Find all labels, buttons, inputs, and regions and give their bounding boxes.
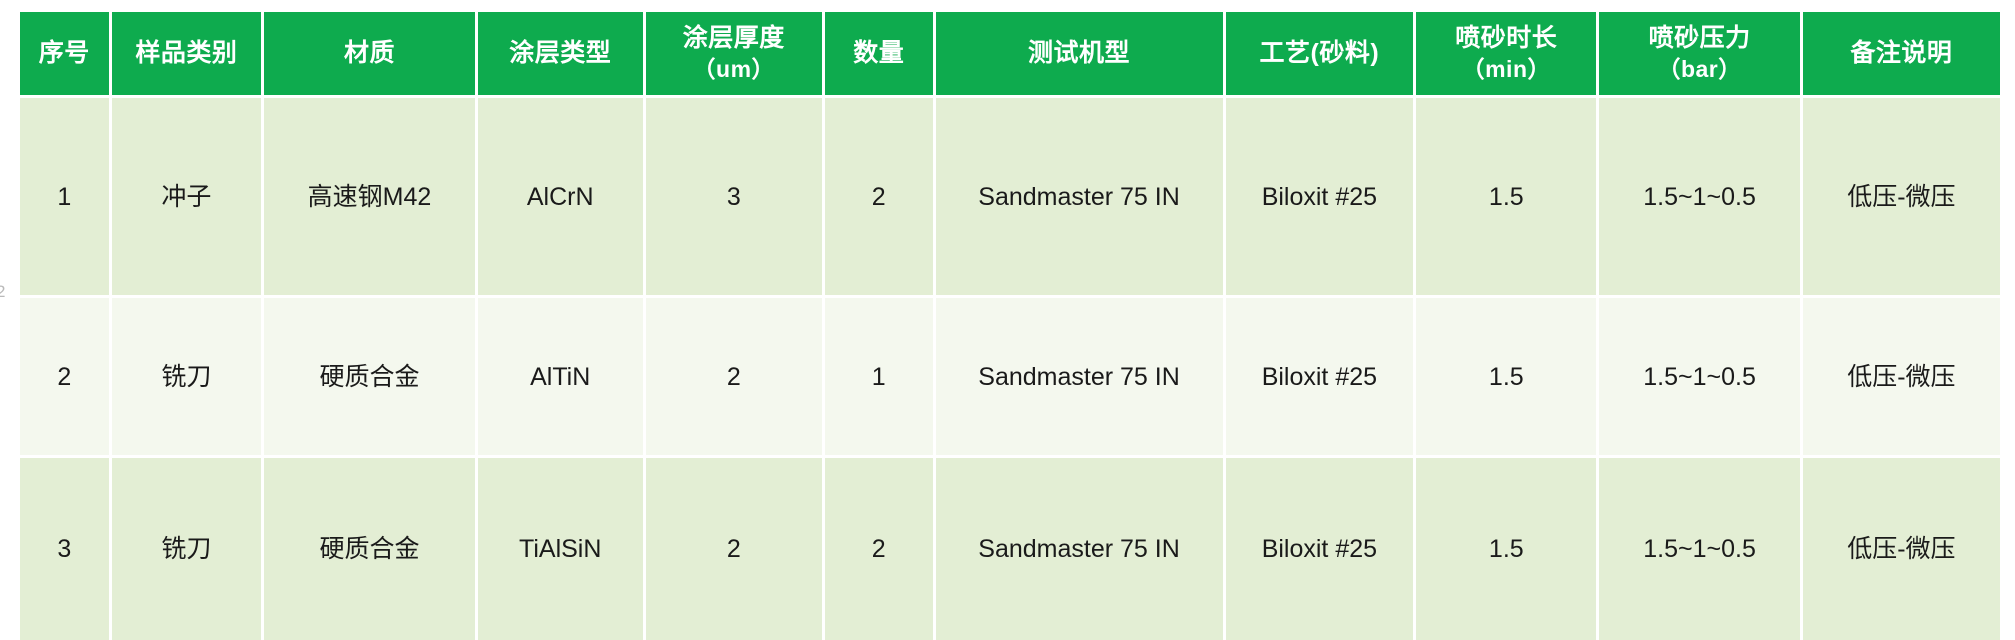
cell-seq: 1 (20, 98, 112, 298)
column-header-blast-pressure-label: 喷砂压力 (1649, 24, 1751, 52)
column-header-quantity-label: 数量 (853, 39, 904, 67)
cell-blast-time: 1.5 (1416, 98, 1599, 298)
cell-coating-thickness: 2 (646, 458, 825, 640)
cell-blast-pressure: 1.5~1~0.5 (1599, 458, 1802, 640)
cell-process-sand: Biloxit #25 (1226, 298, 1417, 458)
cell-coating-thickness: 3 (646, 98, 825, 298)
cell-test-machine: Sandmaster 75 IN (936, 298, 1226, 458)
cell-process-sand: Biloxit #25 (1226, 458, 1417, 640)
cell-blast-time: 1.5 (1416, 298, 1599, 458)
cell-seq: 2 (20, 298, 112, 458)
column-header-coating-type[interactable]: 涂层类型 (478, 12, 646, 98)
table-row[interactable]: 2 铣刀 硬质合金 AlTiN 2 1 Sandmaster 75 IN Bil… (20, 298, 2000, 458)
cell-quantity: 2 (825, 98, 936, 298)
column-header-remark-label: 备注说明 (1850, 39, 1952, 67)
cell-quantity: 1 (825, 298, 936, 458)
sandblasting-spec-table: 序号 样品类别 材质 涂层类型 涂层厚度 （um） 数量 (20, 12, 2000, 640)
cell-material: 硬质合金 (264, 458, 478, 640)
cell-quantity: 2 (825, 458, 936, 640)
column-header-test-machine-label: 测试机型 (1028, 39, 1130, 67)
column-header-blast-pressure[interactable]: 喷砂压力 （bar） (1599, 12, 1802, 98)
cell-blast-time: 1.5 (1416, 458, 1599, 640)
column-header-blast-time-unit: （min） (1416, 54, 1596, 84)
column-header-coating-thickness[interactable]: 涂层厚度 （um） (646, 12, 825, 98)
column-header-process-sand[interactable]: 工艺(砂料) (1226, 12, 1417, 98)
page-root: 2 序号 样品类别 材质 涂层类型 涂层厚 (0, 0, 2015, 637)
cell-blast-pressure: 1.5~1~0.5 (1599, 98, 1802, 298)
column-header-test-machine[interactable]: 测试机型 (936, 12, 1226, 98)
cell-coating-type: AlCrN (478, 98, 646, 298)
cell-coating-type: TiAlSiN (478, 458, 646, 640)
column-header-seq-label: 序号 (39, 39, 90, 67)
column-header-sample-type-label: 样品类别 (135, 39, 237, 67)
column-header-coating-thickness-label: 涂层厚度 (683, 24, 785, 52)
column-header-material-label: 材质 (344, 39, 395, 67)
column-header-quantity[interactable]: 数量 (825, 12, 936, 98)
column-header-blast-time[interactable]: 喷砂时长 （min） (1416, 12, 1599, 98)
cell-material: 高速钢M42 (264, 98, 478, 298)
cell-remark: 低压-微压 (1803, 98, 2000, 298)
cell-sample-type: 冲子 (112, 98, 265, 298)
cell-sample-type: 铣刀 (112, 458, 265, 640)
cell-coating-thickness: 2 (646, 298, 825, 458)
table-row[interactable]: 1 冲子 高速钢M42 AlCrN 3 2 Sandmaster 75 IN B… (20, 98, 2000, 298)
column-header-coating-type-label: 涂层类型 (509, 39, 611, 67)
header-row: 序号 样品类别 材质 涂层类型 涂层厚度 （um） 数量 (20, 12, 2000, 98)
cell-sample-type: 铣刀 (112, 298, 265, 458)
column-header-coating-thickness-unit: （um） (646, 54, 822, 84)
table-row[interactable]: 3 铣刀 硬质合金 TiAlSiN 2 2 Sandmaster 75 IN B… (20, 458, 2000, 640)
column-header-seq[interactable]: 序号 (20, 12, 112, 98)
column-header-material[interactable]: 材质 (264, 12, 478, 98)
cell-process-sand: Biloxit #25 (1226, 98, 1417, 298)
table-body: 1 冲子 高速钢M42 AlCrN 3 2 Sandmaster 75 IN B… (20, 98, 2000, 640)
column-header-blast-time-label: 喷砂时长 (1455, 24, 1557, 52)
column-header-process-sand-label: 工艺(砂料) (1260, 39, 1380, 67)
column-header-blast-pressure-unit: （bar） (1599, 54, 1799, 84)
cell-seq: 3 (20, 458, 112, 640)
cell-coating-type: AlTiN (478, 298, 646, 458)
cell-test-machine: Sandmaster 75 IN (936, 458, 1226, 640)
cell-blast-pressure: 1.5~1~0.5 (1599, 298, 1802, 458)
table-header: 序号 样品类别 材质 涂层类型 涂层厚度 （um） 数量 (20, 12, 2000, 98)
column-header-remark[interactable]: 备注说明 (1803, 12, 2000, 98)
clipped-edge-artifact: 2 (0, 283, 6, 317)
column-header-sample-type[interactable]: 样品类别 (112, 12, 265, 98)
cell-remark: 低压-微压 (1803, 458, 2000, 640)
cell-material: 硬质合金 (264, 298, 478, 458)
cell-remark: 低压-微压 (1803, 298, 2000, 458)
cell-test-machine: Sandmaster 75 IN (936, 98, 1226, 298)
